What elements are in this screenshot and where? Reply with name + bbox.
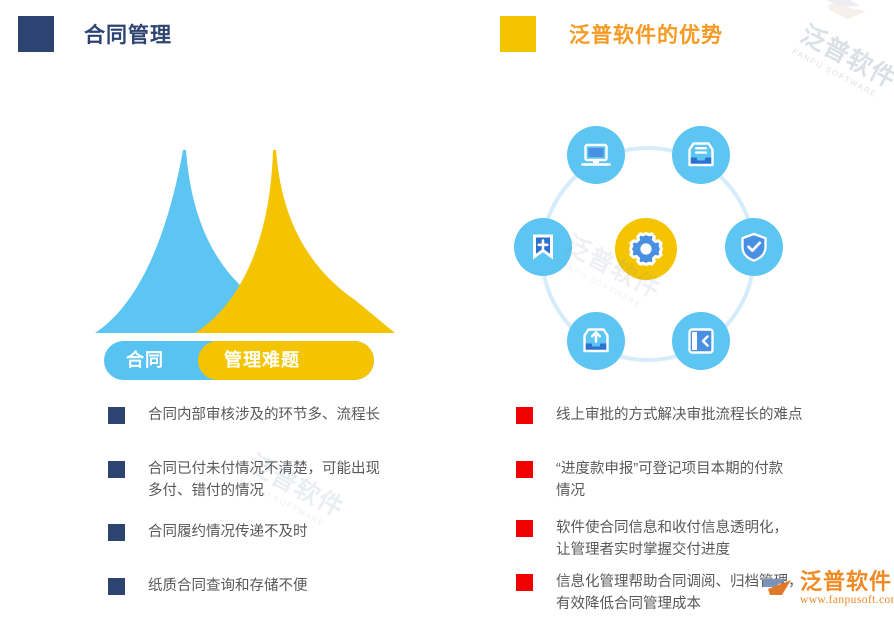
list-item: 软件使合同信息和收付信息透明化， 让管理者实时掌握交付进度 — [516, 517, 788, 561]
square-bullet-icon — [108, 407, 125, 424]
fanpu-logo: 泛普软件 www.fanpusoft.com — [762, 571, 894, 607]
square-marker-icon — [500, 16, 536, 52]
list-item: 合同内部审核涉及的环节多、流程长 — [108, 404, 380, 426]
square-marker-icon — [18, 16, 54, 52]
pill-label-difficulty: 管理难题 — [224, 341, 300, 380]
list-item: “进度款申报”可登记项目本期的付款 情况 — [516, 458, 783, 502]
list-item: 纸质合同查询和存储不便 — [108, 575, 308, 597]
inbox-tray-icon[interactable] — [672, 126, 730, 184]
list-item: 线上审批的方式解决审批流程长的难点 — [516, 404, 803, 426]
twin-spire-chart — [95, 140, 395, 340]
square-bullet-icon — [108, 578, 125, 595]
square-bullet-icon — [108, 461, 125, 478]
pill-label-contract: 合同 — [126, 341, 164, 380]
list-item: 信息化管理帮助合同调阅、归档管理， 有效降低合同管理成本 — [516, 571, 803, 615]
square-bullet-icon — [516, 407, 533, 424]
logo-name: 泛普软件 — [800, 571, 894, 593]
left-section-title: 合同管理 — [84, 19, 172, 49]
shield-check-icon[interactable] — [725, 218, 783, 276]
square-bullet-icon — [516, 520, 533, 537]
square-bullet-icon — [108, 524, 125, 541]
right-section-title: 泛普软件的优势 — [569, 19, 723, 49]
watermark-logo-top-right: 泛普软件 FANPU SOFTWARE — [784, 0, 894, 115]
square-bullet-icon — [516, 461, 533, 478]
panel-collapse-icon[interactable] — [672, 312, 730, 370]
list-item-text: “进度款申报”可登记项目本期的付款 情况 — [556, 458, 783, 502]
list-item-text: 线上审批的方式解决审批流程长的难点 — [556, 404, 803, 426]
left-section-header: 合同管理 — [18, 16, 172, 52]
list-item-text: 合同内部审核涉及的环节多、流程长 — [148, 404, 380, 426]
logo-url: www.fanpusoft.com — [800, 593, 894, 607]
right-section-header: 泛普软件的优势 — [500, 16, 723, 52]
list-item-text: 软件使合同信息和收付信息透明化， 让管理者实时掌握交付进度 — [556, 517, 788, 561]
laptop-icon[interactable] — [567, 126, 625, 184]
square-bullet-icon — [516, 574, 533, 591]
contract-difficulty-pill: 合同 管理难题 — [104, 341, 374, 380]
fanpu-logo-icon — [762, 574, 796, 604]
list-item-text: 纸质合同查询和存储不便 — [148, 575, 308, 597]
